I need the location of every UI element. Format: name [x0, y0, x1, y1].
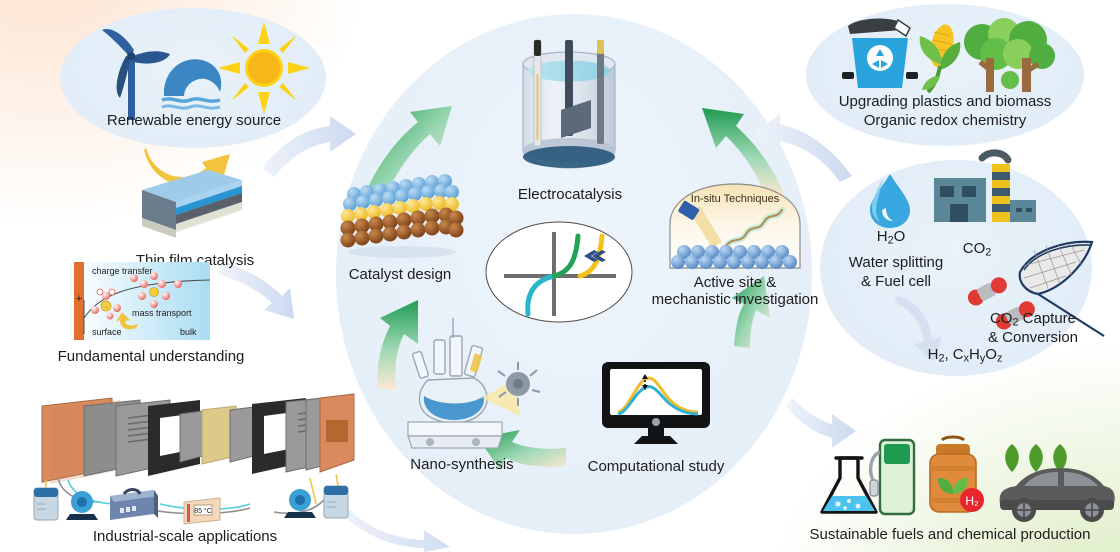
bottle-icon: [34, 488, 58, 520]
trees-icon: [960, 14, 1060, 100]
polarization-curve-inset: [484, 220, 634, 324]
plus-symbol: +: [76, 293, 82, 305]
in-situ-caption: In-situ Techniques: [691, 193, 780, 205]
temperature-controller-icon: 85 °C: [184, 498, 220, 524]
green-arrow-up-right: [732, 276, 770, 348]
mass-transport-label: mass transport: [132, 308, 192, 318]
capture-net-icon: [1014, 236, 1114, 340]
bottle-icon: [324, 486, 348, 518]
round-bottom-flask-stirrer-icon: [398, 336, 530, 452]
graphical-abstract: Electrocatalysis: [0, 0, 1120, 552]
fuel-pump-icon: [868, 438, 920, 518]
hydrogen-badge-label: H₂: [965, 494, 979, 508]
sun-icon: [218, 22, 310, 114]
in-situ-probe-icon: In-situ Techniques: [664, 180, 806, 272]
layered-thin-film-icon: [140, 168, 244, 240]
three-electrode-cell-icon: [505, 24, 635, 184]
pump-icon: [284, 489, 316, 518]
surface-label: surface: [92, 327, 122, 337]
minus-symbol: −: [104, 305, 108, 311]
water-drop-icon: [866, 172, 916, 230]
down-arrow-icon: [890, 292, 956, 364]
arrow-fundamental-to-center: [218, 261, 294, 319]
recycle-bin-icon: [840, 14, 920, 96]
layered-atom-slab-icon: [340, 176, 466, 262]
temperature-value: 85 °C: [194, 507, 212, 515]
corn-icon: [910, 20, 966, 96]
electrolyzer-stack-icon: 85 °C: [24, 392, 354, 522]
electrode-double-layer-icon: + charge transfer mass transport surface…: [62, 262, 210, 340]
charge-transfer-label: charge transfer: [92, 266, 153, 276]
car-icon: [994, 462, 1118, 524]
monitor-plot-icon: [600, 362, 712, 450]
factory-icon: [930, 156, 1040, 234]
power-supply-icon: [110, 490, 158, 521]
hydrogen-cylinder-icon: H₂: [922, 436, 984, 518]
bulk-label: bulk: [180, 327, 197, 337]
